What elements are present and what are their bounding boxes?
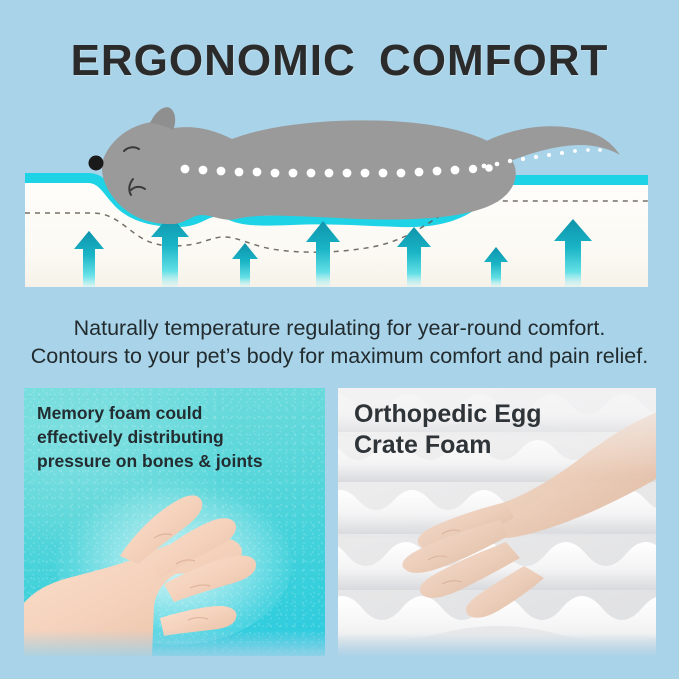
copy-line-2: Contours to your pet’s body for maximum … — [0, 342, 679, 370]
panel-memory-foam-caption: Memory foam could effectively distributi… — [37, 401, 263, 473]
panel-egg-crate-foam: Orthopedic Egg Crate Foam — [338, 388, 656, 656]
panel-memory-foam: Memory foam could effectively distributi… — [24, 388, 325, 656]
illustration-dog-on-mattress — [0, 95, 679, 300]
panel-egg-crate-caption: Orthopedic Egg Crate Foam — [354, 399, 542, 461]
dog-nose — [89, 156, 104, 171]
feature-panels: Memory foam could effectively distributi… — [24, 388, 656, 656]
infographic-page: ERGONOMIC COMFORT — [0, 0, 679, 679]
page-title: ERGONOMIC COMFORT — [0, 36, 679, 86]
panel-bottom-fade — [24, 630, 325, 656]
panel-bottom-fade — [338, 634, 656, 656]
body-copy: Naturally temperature regulating for yea… — [0, 314, 679, 370]
copy-line-1: Naturally temperature regulating for yea… — [0, 314, 679, 342]
